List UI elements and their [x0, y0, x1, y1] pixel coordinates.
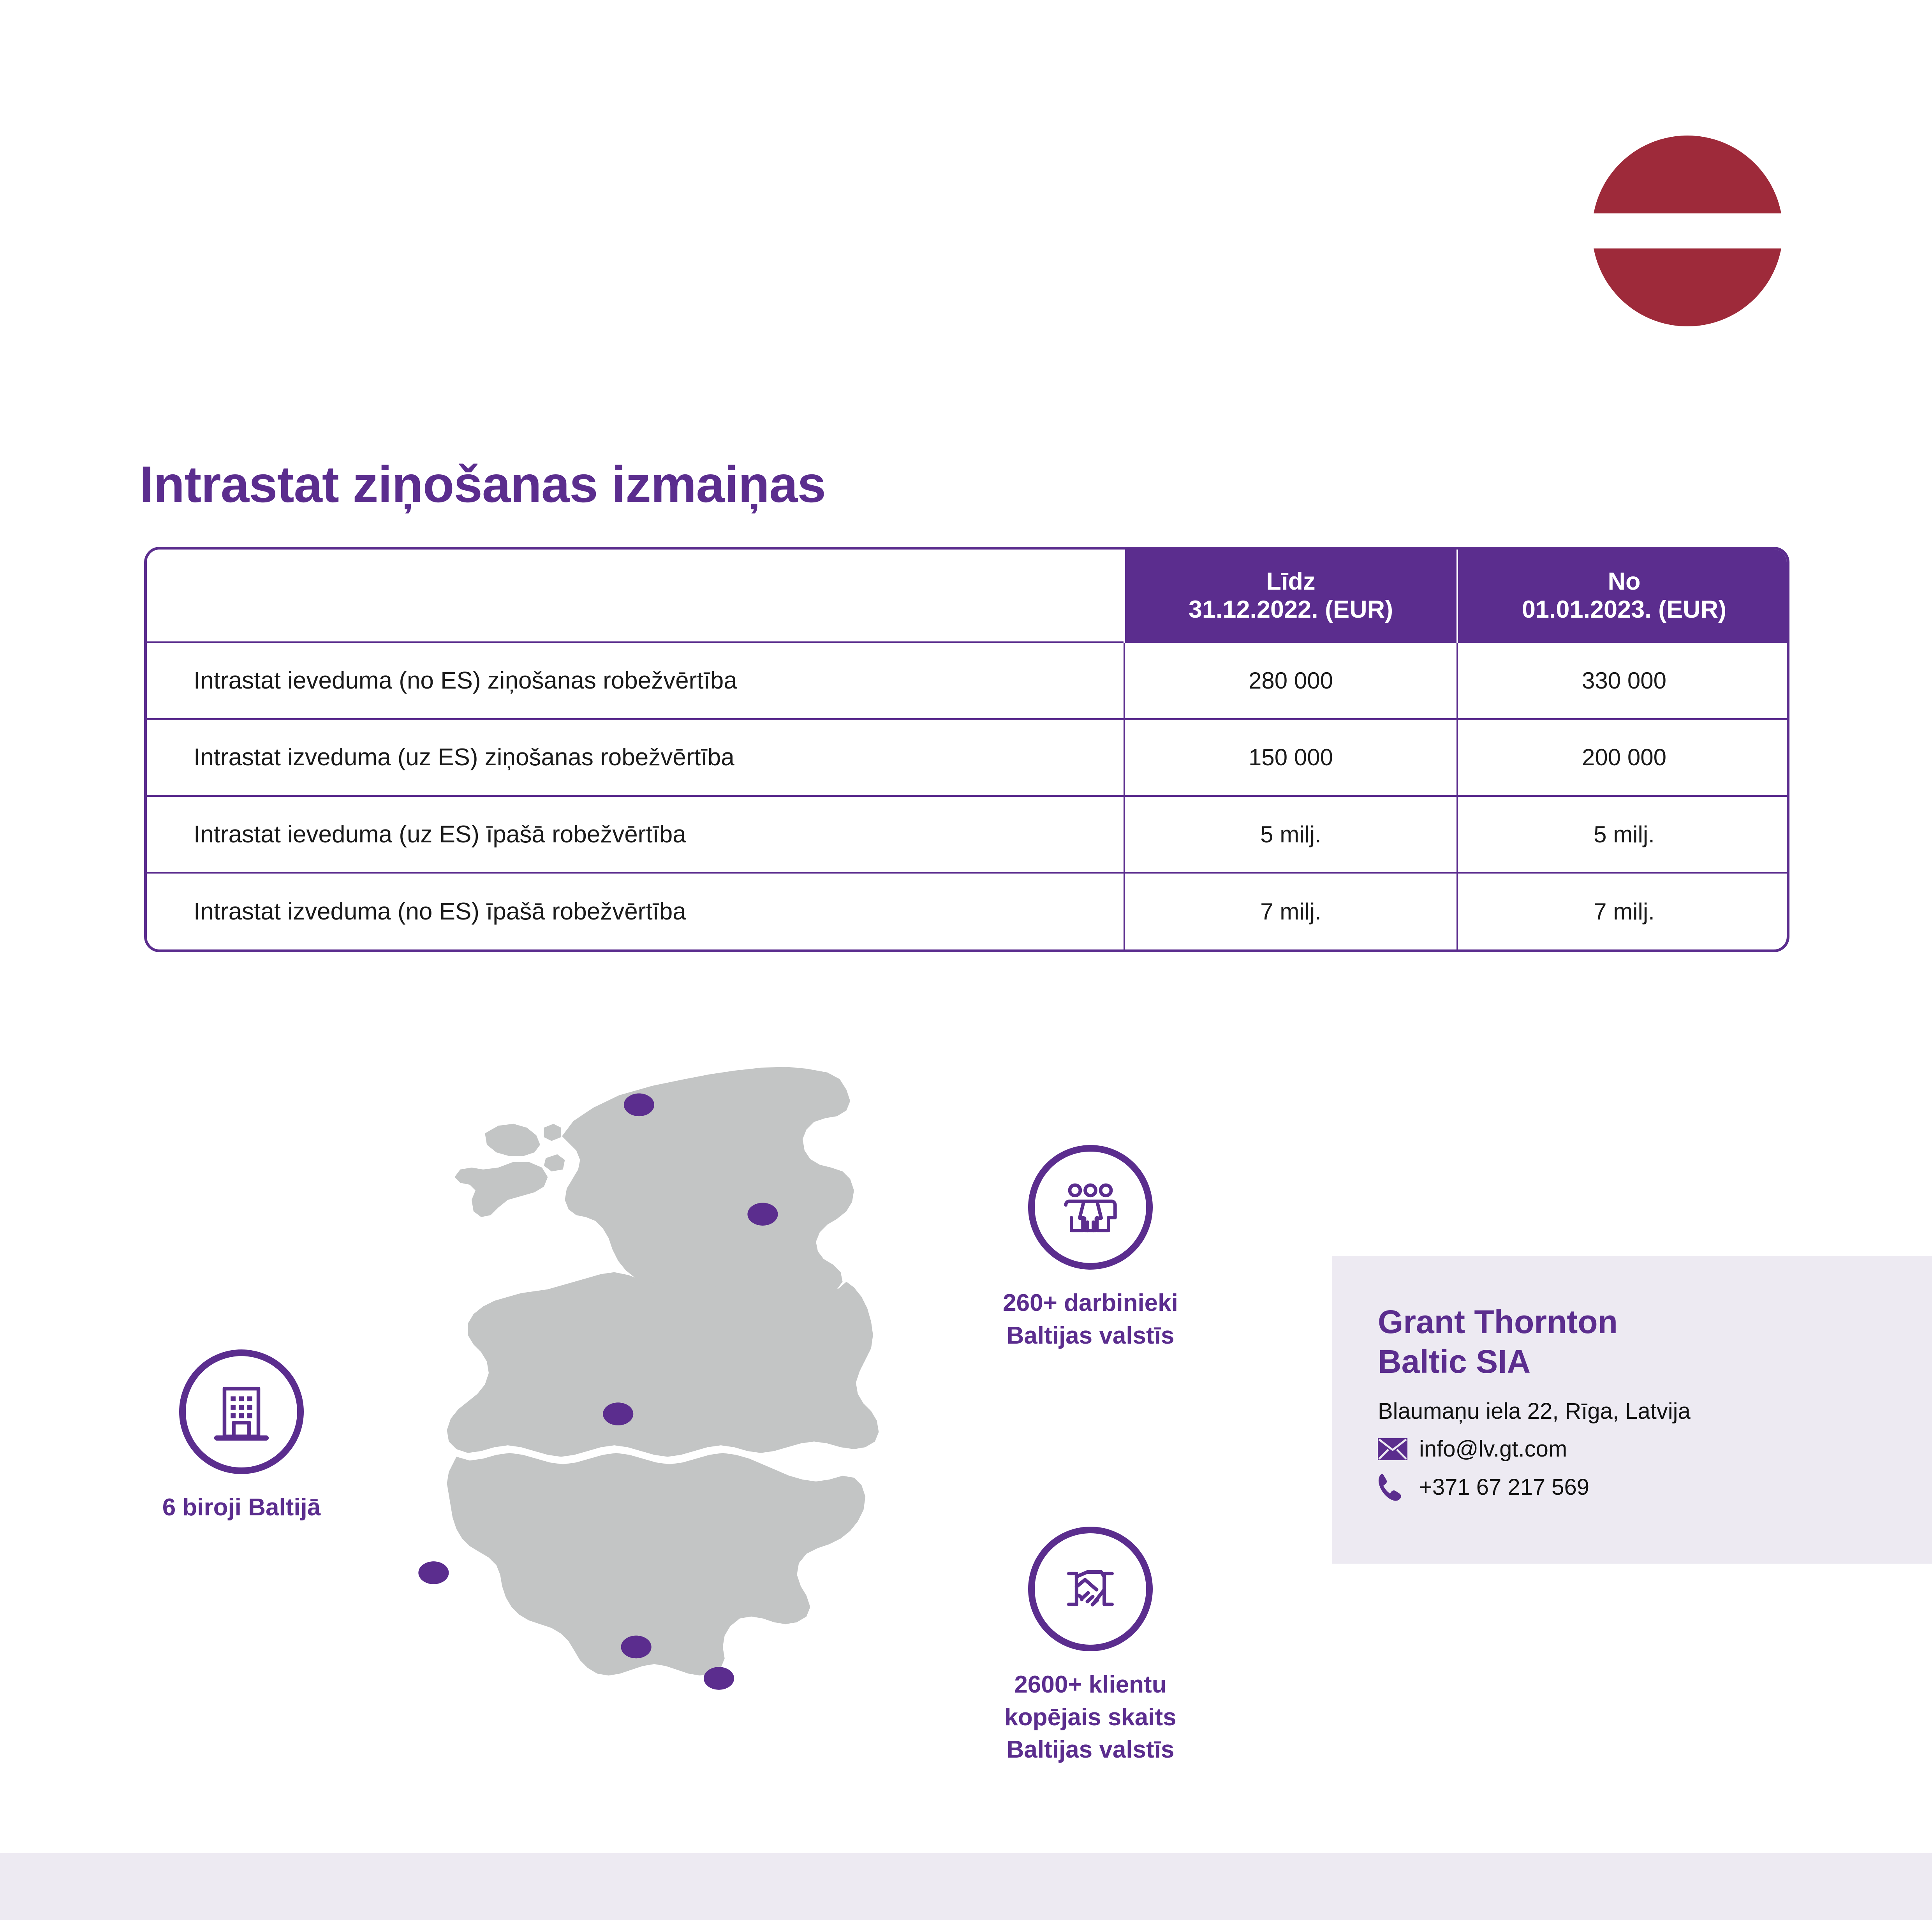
- table-row: Intrastat izveduma (uz ES) ziņošanas rob…: [147, 719, 1789, 796]
- table-header-from-2023: No01.01.2023. (EUR): [1457, 550, 1789, 642]
- map-office-marker: [418, 1561, 449, 1584]
- office-building-icon: [204, 1375, 278, 1449]
- row-label: Intrastat izveduma (no ES) īpašā robežvē…: [147, 873, 1124, 949]
- infographic-page: Intrastat ziņošanas izmaiņas Līdz31.12.2…: [0, 0, 1932, 1920]
- stat-clients: 2600+ klientu kopējais skaits Baltijas v…: [942, 1527, 1238, 1766]
- flag-band-bottom: [1592, 248, 1783, 326]
- row-label: Intrastat izveduma (uz ES) ziņošanas rob…: [147, 719, 1124, 796]
- map-island-saaremaa: [454, 1162, 548, 1217]
- contact-email-row[interactable]: info@lv.gt.com: [1378, 1436, 1932, 1462]
- company-email: info@lv.gt.com: [1419, 1436, 1567, 1462]
- table-header-row: Līdz31.12.2022. (EUR) No01.01.2023. (EUR…: [147, 550, 1789, 642]
- stat-offices: 6 biroji Baltijā: [93, 1349, 389, 1524]
- flag-band-white: [1592, 213, 1783, 248]
- table-header-blank: [147, 550, 1124, 642]
- map-office-marker: [747, 1203, 778, 1226]
- row-value-from-2023: 200 000: [1457, 719, 1789, 796]
- flag-band-top: [1592, 136, 1783, 213]
- row-label: Intrastat ieveduma (no ES) ziņošanas rob…: [147, 642, 1124, 719]
- map-office-marker: [603, 1402, 633, 1425]
- page-title: Intrastat ziņošanas izmaiņas: [139, 455, 826, 514]
- contact-card: Grant Thornton Baltic SIA Blaumaņu iela …: [1332, 1256, 1932, 1564]
- footer-strip: [0, 1853, 1932, 1920]
- stat-employees-label: 260+ darbinieki Baltijas valstīs: [942, 1287, 1238, 1352]
- stat-employees-ring: [1028, 1145, 1153, 1270]
- table-header-until-2022: Līdz31.12.2022. (EUR): [1124, 550, 1457, 642]
- stat-offices-label: 6 biroji Baltijā: [93, 1491, 389, 1524]
- stat-offices-ring: [179, 1349, 304, 1474]
- intrastat-threshold-table: Līdz31.12.2022. (EUR) No01.01.2023. (EUR…: [144, 547, 1789, 952]
- map-office-marker: [624, 1094, 654, 1117]
- stat-employees: 260+ darbinieki Baltijas valstīs: [942, 1145, 1238, 1352]
- envelope-icon-svg: [1378, 1438, 1407, 1460]
- map-office-marker: [704, 1667, 734, 1690]
- map-island-hiiumaa: [485, 1124, 540, 1156]
- stat-clients-ring: [1028, 1527, 1153, 1651]
- latvia-flag-roundel-icon: [1592, 136, 1783, 326]
- company-address: Blaumaņu iela 22, Rīga, Latvija: [1378, 1397, 1932, 1426]
- phone-icon-svg: [1378, 1472, 1402, 1502]
- map-country-estonia: [562, 1067, 854, 1297]
- table-row: Intrastat ieveduma (uz ES) īpašā robežvē…: [147, 796, 1789, 873]
- map-country-lithuania: [447, 1453, 866, 1676]
- contact-phone-row[interactable]: +371 67 217 569: [1378, 1472, 1932, 1502]
- row-label: Intrastat ieveduma (uz ES) īpašā robežvē…: [147, 796, 1124, 873]
- phone-icon: [1378, 1472, 1414, 1502]
- envelope-icon: [1378, 1438, 1414, 1460]
- baltic-states-map: [407, 1048, 902, 1799]
- row-value-from-2023: 5 milj.: [1457, 796, 1789, 873]
- row-value-until-2022: 280 000: [1124, 642, 1457, 719]
- three-people-icon: [1053, 1170, 1127, 1244]
- map-island-small-b: [544, 1154, 565, 1171]
- row-value-from-2023: 7 milj.: [1457, 873, 1789, 949]
- row-value-until-2022: 5 milj.: [1124, 796, 1457, 873]
- map-office-marker: [621, 1636, 652, 1659]
- company-phone: +371 67 217 569: [1419, 1474, 1589, 1500]
- table-row: Intrastat izveduma (no ES) īpašā robežvē…: [147, 873, 1789, 949]
- map-country-latvia: [447, 1272, 879, 1457]
- row-value-until-2022: 7 milj.: [1124, 873, 1457, 949]
- map-island-small-a: [544, 1124, 561, 1141]
- table-row: Intrastat ieveduma (no ES) ziņošanas rob…: [147, 642, 1789, 719]
- row-value-until-2022: 150 000: [1124, 719, 1457, 796]
- row-value-from-2023: 330 000: [1457, 642, 1789, 719]
- handshake-icon: [1053, 1552, 1127, 1626]
- stat-clients-label: 2600+ klientu kopējais skaits Baltijas v…: [942, 1668, 1238, 1766]
- company-name: Grant Thornton Baltic SIA: [1378, 1302, 1932, 1382]
